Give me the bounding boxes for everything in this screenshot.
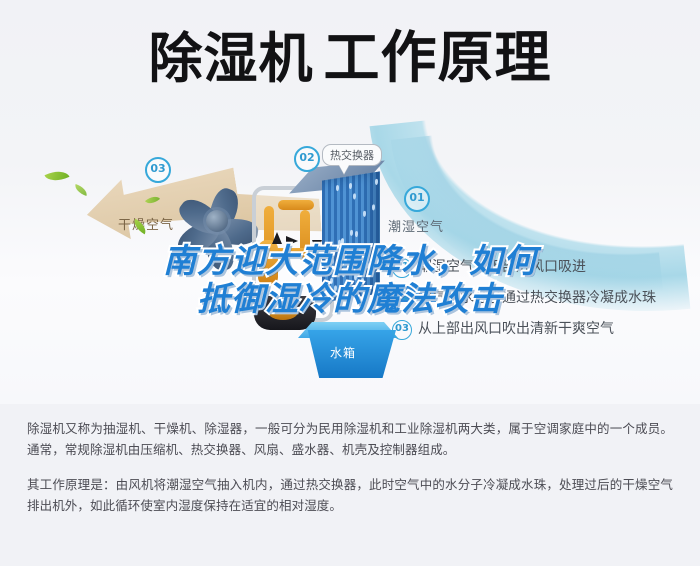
step-number: 02 [392, 289, 412, 309]
condensation-droplet [336, 184, 339, 190]
condensation-droplet [331, 258, 334, 264]
step-number: 03 [392, 320, 412, 340]
badge-01: 01 [404, 186, 430, 212]
condensation-droplet [354, 274, 357, 280]
condensation-droplet [375, 251, 378, 257]
condensation-droplet [342, 271, 345, 277]
flow-arrow-right-icon [286, 236, 298, 246]
step-text: 从上部出风口吹出清新干爽空气 [418, 318, 614, 338]
condensation-droplet [336, 259, 339, 265]
step-text: 空气中水分子通过热交换器冷凝成水珠 [418, 287, 656, 307]
condensation-droplet [366, 251, 369, 257]
step-text: 潮湿空气由下部进风口吸进 [418, 256, 586, 276]
badge-03: 03 [145, 157, 171, 183]
heat-exchanger-coil [322, 171, 380, 302]
water-tank-label: 水箱 [330, 344, 356, 361]
compressor-cylinder [258, 240, 278, 286]
infographic-image: 除湿机工作原理 干燥空气 [0, 0, 700, 404]
step-item-01: 01 潮湿空气由下部进风口吸进 [392, 256, 692, 278]
humid-air-label: 潮湿空气 [388, 216, 444, 235]
dry-air-label: 干燥空气 [118, 214, 174, 233]
condensation-droplet [372, 204, 375, 210]
leaf-icon [73, 184, 89, 196]
condensation-droplet [330, 278, 333, 284]
title-part-1: 除湿机 [149, 28, 314, 90]
flow-arrow-up-icon [272, 232, 282, 244]
condensation-droplet [326, 258, 329, 264]
condensation-droplet [341, 238, 344, 244]
condensation-droplet [373, 262, 376, 268]
condensation-droplet [349, 183, 352, 189]
condensation-droplet [363, 210, 366, 216]
condensation-droplet [353, 193, 356, 199]
step-list: 01 潮湿空气由下部进风口吸进 02 空气中水分子通过热交换器冷凝成水珠 03 … [392, 256, 692, 349]
compressor-base [254, 296, 316, 330]
step-item-02: 02 空气中水分子通过热交换器冷凝成水珠 [392, 287, 692, 309]
step-number: 01 [392, 258, 412, 278]
condensation-droplet [373, 285, 376, 291]
flow-arrow-down-icon [312, 240, 322, 252]
page-root: 除湿机工作原理 干燥空气 [0, 0, 700, 566]
refrigerant-pipe [278, 200, 314, 210]
condensation-droplet [355, 230, 358, 236]
condensation-droplet [340, 261, 343, 267]
article-paragraph-1: 除湿机又称为抽湿机、干燥机、除湿器，一般可分为民用除湿机和工业除湿机两大类，属于… [27, 418, 673, 460]
condensation-droplet [326, 263, 329, 269]
step-item-03: 03 从上部出风口吹出清新干爽空气 [392, 318, 692, 340]
badge-02: 02 [294, 146, 320, 172]
leaf-icon [44, 166, 69, 186]
article-paragraph-2: 其工作原理是：由风机将潮湿空气抽入机内，通过热交换器，此时空气中的水分子冷凝成水… [27, 474, 673, 516]
fan-hub [206, 210, 228, 232]
article-body: 除湿机又称为抽湿机、干燥机、除湿器，一般可分为民用除湿机和工业除湿机两大类，属于… [0, 404, 700, 566]
condensation-droplet [361, 277, 364, 283]
condensation-droplet [334, 285, 337, 291]
condensation-droplet [366, 262, 369, 268]
page-title: 除湿机工作原理 [0, 28, 700, 90]
condensation-droplet [375, 179, 378, 185]
title-part-2: 工作原理 [324, 28, 552, 90]
condensation-droplet [350, 230, 353, 236]
heat-exchanger-callout: 热交换器 [322, 144, 382, 166]
